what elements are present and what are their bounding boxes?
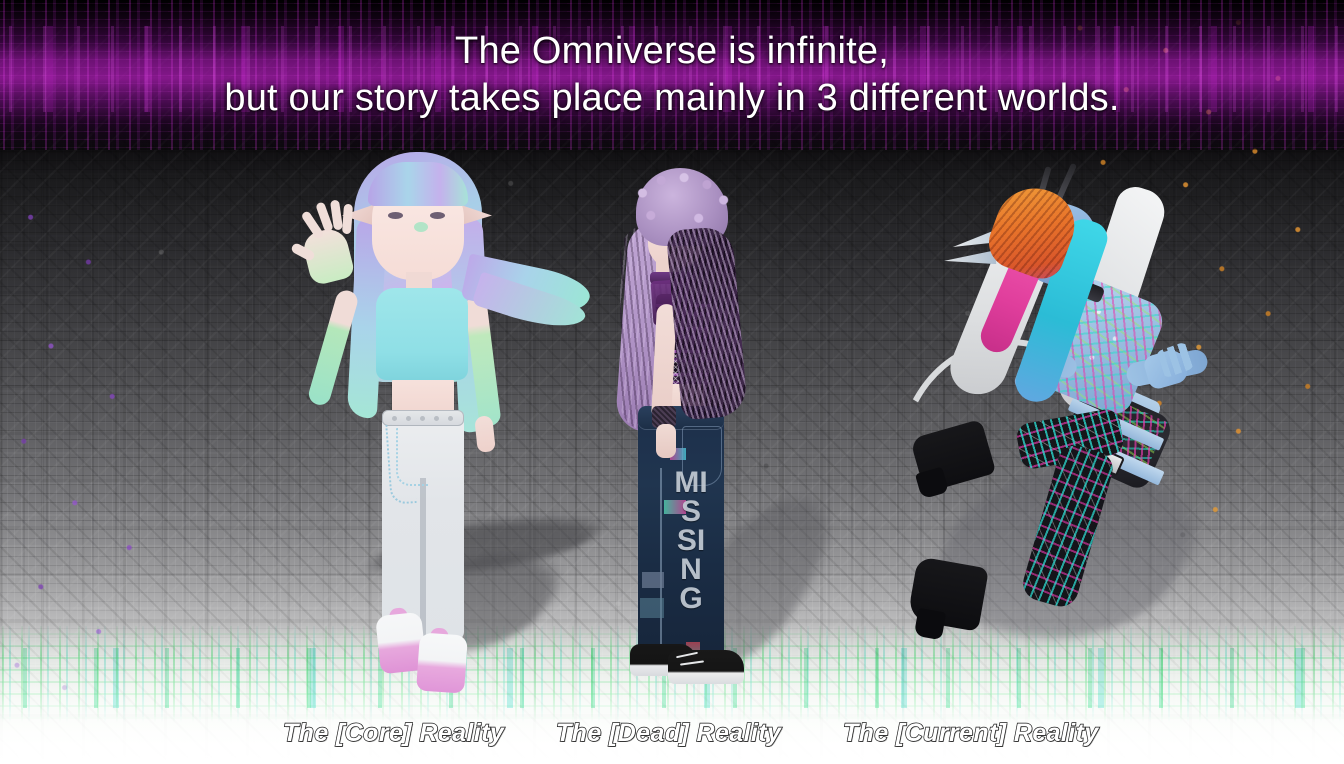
caption-core-reality: The [Core] Reality xyxy=(283,719,504,748)
character-dead-reality: MISSING xyxy=(612,168,792,680)
slide-canvas: The Omniverse is infinite, but our story… xyxy=(0,0,1344,764)
boot-heel-front xyxy=(914,608,946,640)
world-captions: The [Core] Reality The [Dead] Reality Th… xyxy=(0,708,1344,748)
platform-sneaker-right xyxy=(416,632,468,693)
belt-eyelet xyxy=(406,416,411,421)
jeans-seam xyxy=(660,468,662,664)
hand xyxy=(656,424,676,458)
jeans-lettering: MISSING xyxy=(674,468,708,613)
caption-dead-reality: The [Dead] Reality xyxy=(556,719,781,748)
character-core-reality xyxy=(268,148,568,696)
belt-eyelet xyxy=(392,416,397,421)
eye-left xyxy=(388,212,403,219)
finger xyxy=(342,204,353,235)
character-current-reality xyxy=(890,160,1190,620)
belt-eyelet xyxy=(420,416,425,421)
belt-eyelet xyxy=(448,416,453,421)
jeans-patch xyxy=(640,598,664,618)
jeans-patch xyxy=(642,572,664,588)
eye-right xyxy=(430,212,445,219)
hip-chain-secondary xyxy=(396,428,428,486)
pants-inseam xyxy=(420,478,426,642)
cyan-crop-top xyxy=(376,288,468,380)
face-marking xyxy=(414,222,428,232)
caption-current-reality: The [Current] Reality xyxy=(843,719,1099,748)
belt-eyelet xyxy=(434,416,439,421)
slide-title: The Omniverse is infinite, but our story… xyxy=(0,28,1344,122)
